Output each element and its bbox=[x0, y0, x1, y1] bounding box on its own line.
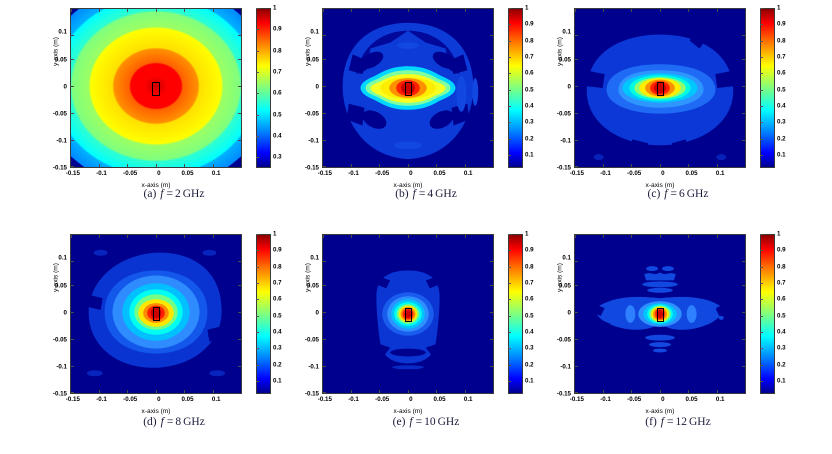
y-tick-label: -0.1 bbox=[308, 363, 319, 370]
colorbar-tick-label: 0.2 bbox=[273, 361, 282, 368]
x-tick-label: 0 bbox=[157, 170, 160, 177]
colorbar-tick-label: 0.7 bbox=[273, 69, 282, 76]
x-tick-label: 0.1 bbox=[716, 396, 725, 403]
colorbar-tick bbox=[508, 155, 511, 156]
colorbar-tick-label: 0.6 bbox=[777, 296, 786, 303]
colorbar-tick-label: 0.3 bbox=[777, 119, 786, 126]
y-tick-label: -0.1 bbox=[560, 363, 571, 370]
x-tick-label: 0 bbox=[661, 396, 664, 403]
panel-e: 0.10.050-0.05-0.1-0.15 y-axis (m) bbox=[296, 228, 556, 443]
colorbar-tick-label: 0.1 bbox=[525, 377, 534, 384]
caption-label-c: (c) bbox=[648, 188, 661, 200]
caption-unit-d: GHz bbox=[181, 416, 205, 428]
x-tick-label: -0.15 bbox=[570, 396, 584, 403]
colorbar-tick bbox=[256, 381, 259, 382]
colorbar-tick-label: 0.4 bbox=[273, 133, 282, 140]
x-tick-label: -0.1 bbox=[600, 170, 611, 177]
x-tick-labels-c: -0.15-0.1-0.0500.050.1 bbox=[574, 170, 746, 181]
y-tick-label: 0.1 bbox=[58, 29, 67, 36]
caption-unit-f: GHz bbox=[687, 416, 711, 428]
x-tick-label: 0.1 bbox=[212, 396, 221, 403]
caption-label-d: (d) bbox=[143, 416, 156, 428]
x-tick-label: -0.1 bbox=[348, 396, 359, 403]
y-tick-label: -0.1 bbox=[56, 137, 67, 144]
colorbar-tick-label: 0.4 bbox=[273, 328, 282, 335]
colorbar-tick-label: 0.9 bbox=[273, 26, 282, 33]
x-tick-label: 0.05 bbox=[182, 170, 194, 177]
colorbar-tick-label: 1 bbox=[273, 5, 276, 12]
y-tick-label: -0.05 bbox=[305, 110, 319, 117]
colorbar-tick-label: 0.7 bbox=[273, 279, 282, 286]
colorbar-f bbox=[760, 234, 775, 394]
panel-f: 0.10.050-0.05-0.1-0.15 y-axis (m) bbox=[548, 228, 808, 443]
caption-value-f: 12 bbox=[675, 416, 687, 428]
y-tick-label: 0 bbox=[316, 309, 319, 316]
colorbar-tick bbox=[760, 122, 763, 123]
colorbar-tick-label: 0.4 bbox=[777, 102, 786, 109]
colorbar-tick bbox=[760, 332, 763, 333]
x-tick-label: -0.1 bbox=[600, 396, 611, 403]
colorbar-tick-label: 0.3 bbox=[525, 119, 534, 126]
colorbar-tick-label: 0.7 bbox=[777, 53, 786, 60]
caption-label-b: (b) bbox=[395, 188, 408, 200]
caption-label-a: (a) bbox=[144, 188, 157, 200]
plot-area-a bbox=[70, 8, 242, 168]
colorbar-tick bbox=[256, 29, 259, 30]
colorbar-tick bbox=[256, 8, 259, 9]
caption-eq-c: = bbox=[669, 188, 680, 200]
x-tick-label: -0.15 bbox=[318, 170, 332, 177]
colorbar-tick bbox=[256, 136, 259, 137]
figure-panel-grid: 0.10.050-0.05-0.1-0.15 y-axis (m) bbox=[0, 0, 832, 454]
colorbar-tick-label: 1 bbox=[525, 231, 528, 238]
colorbar-tick bbox=[760, 316, 763, 317]
colorbar-tick bbox=[760, 234, 763, 235]
plot-area-e bbox=[322, 234, 494, 394]
colorbar-tick-label: 0.9 bbox=[777, 247, 786, 254]
y-tick-label: 0 bbox=[64, 309, 67, 316]
colorbar-tick bbox=[508, 283, 511, 284]
colorbar-tick bbox=[508, 41, 511, 42]
colorbar-tick bbox=[508, 122, 511, 123]
x-tick-labels-d: -0.15-0.1-0.0500.050.1 bbox=[70, 396, 242, 407]
y-axis-title-f: y-axis (m) bbox=[557, 238, 564, 318]
y-tick-label: -0.1 bbox=[56, 363, 67, 370]
colorbar-tick bbox=[508, 57, 511, 58]
colorbar-tick bbox=[760, 106, 763, 107]
colorbar-tick bbox=[760, 299, 763, 300]
caption-eq-f: = bbox=[665, 416, 676, 428]
colorbar-tick bbox=[508, 299, 511, 300]
x-tick-label: -0.1 bbox=[348, 170, 359, 177]
x-tick-label: 0.1 bbox=[716, 170, 725, 177]
y-tick-label: -0.1 bbox=[560, 137, 571, 144]
y-tick-label: 0 bbox=[64, 83, 67, 90]
y-axis-title-e: y-axis (m) bbox=[305, 238, 312, 318]
colorbar-tick-label: 0.7 bbox=[525, 279, 534, 286]
colorbar-tick bbox=[508, 234, 511, 235]
colorbar-tick bbox=[760, 24, 763, 25]
caption-value-c: 6 bbox=[679, 188, 685, 200]
caption-label-e: (e) bbox=[393, 416, 406, 428]
caption-value-a: 2 bbox=[175, 188, 181, 200]
colorbar-tick-label: 0.2 bbox=[525, 135, 534, 142]
colorbar-tick bbox=[760, 57, 763, 58]
target-rectangle-c bbox=[657, 82, 664, 96]
plot-box-d bbox=[70, 234, 242, 394]
colorbar-tick bbox=[256, 299, 259, 300]
y-axis-title-c: y-axis (m) bbox=[557, 12, 564, 92]
colorbar-tick-label: 0.1 bbox=[777, 151, 786, 158]
colorbar-tick-label: 0.6 bbox=[273, 296, 282, 303]
colorbar-tick-label: 0.6 bbox=[525, 70, 534, 77]
x-tick-labels-e: -0.15-0.1-0.0500.050.1 bbox=[322, 396, 494, 407]
y-tick-label: -0.1 bbox=[308, 137, 319, 144]
colorbar-tick bbox=[256, 157, 259, 158]
colorbar-tick bbox=[508, 139, 511, 140]
y-tick-label: 0.1 bbox=[310, 29, 319, 36]
colorbar-tick bbox=[508, 267, 511, 268]
colorbar-tick bbox=[760, 90, 763, 91]
x-tick-label: -0.15 bbox=[570, 170, 584, 177]
x-tick-label: 0 bbox=[409, 396, 412, 403]
y-tick-label: 0.1 bbox=[562, 29, 571, 36]
colorbar-tick-label: 1 bbox=[777, 231, 780, 238]
y-tick-label: -0.05 bbox=[557, 110, 571, 117]
colorbar-tick-label: 0.9 bbox=[525, 21, 534, 28]
caption-symbol-a: f bbox=[156, 188, 164, 200]
caption-unit-e: GHz bbox=[436, 416, 460, 428]
x-tick-label: 0.1 bbox=[464, 170, 473, 177]
colorbar-tick-label: 0.8 bbox=[525, 263, 534, 270]
colorbar-b bbox=[508, 8, 523, 168]
caption-label-f: (f) bbox=[645, 416, 657, 428]
colorbar-tick bbox=[760, 8, 763, 9]
colorbar-tick bbox=[508, 381, 511, 382]
colorbar-tick bbox=[508, 73, 511, 74]
colorbar-tick-label: 0.5 bbox=[273, 111, 282, 118]
y-tick-label: -0.05 bbox=[53, 336, 67, 343]
colorbar-tick bbox=[760, 348, 763, 349]
colorbar-tick bbox=[508, 24, 511, 25]
colorbar-tick-label: 0.3 bbox=[273, 345, 282, 352]
colorbar-tick bbox=[256, 267, 259, 268]
caption-unit-b: GHz bbox=[433, 188, 457, 200]
x-tick-label: 0.05 bbox=[434, 170, 446, 177]
colorbar-a bbox=[256, 8, 271, 168]
caption-symbol-b: f bbox=[409, 188, 417, 200]
x-tick-label: 0 bbox=[409, 170, 412, 177]
colorbar-tick-label: 0.8 bbox=[525, 37, 534, 44]
colorbar-tick bbox=[760, 41, 763, 42]
colorbar-tick bbox=[508, 106, 511, 107]
caption-symbol-e: f bbox=[405, 416, 413, 428]
colorbar-tick bbox=[508, 316, 511, 317]
x-tick-label: -0.05 bbox=[375, 170, 389, 177]
colorbar-tick bbox=[508, 250, 511, 251]
colorbar-tick-label: 0.2 bbox=[777, 361, 786, 368]
caption-symbol-f: f bbox=[657, 416, 665, 428]
x-tick-label: -0.05 bbox=[627, 396, 641, 403]
colorbar-tick-label: 0.5 bbox=[777, 312, 786, 319]
y-axis-title-a: y-axis (m) bbox=[53, 12, 60, 92]
y-tick-label: -0.05 bbox=[557, 336, 571, 343]
colorbar-tick-label: 1 bbox=[525, 5, 528, 12]
plot-box-f bbox=[574, 234, 746, 394]
plot-box-c bbox=[574, 8, 746, 168]
plot-area-b bbox=[322, 8, 494, 168]
caption-e: (e)f=10GHz bbox=[296, 416, 556, 428]
plot-box-b bbox=[322, 8, 494, 168]
colorbar-tick bbox=[256, 348, 259, 349]
caption-eq-d: = bbox=[165, 416, 176, 428]
colorbar-tick-label: 0.6 bbox=[273, 90, 282, 97]
colorbar-tick-label: 0.3 bbox=[525, 345, 534, 352]
colorbar-tick bbox=[256, 72, 259, 73]
x-tick-label: -0.05 bbox=[627, 170, 641, 177]
colorbar-tick bbox=[760, 250, 763, 251]
colorbar-tick-label: 0.4 bbox=[525, 102, 534, 109]
colorbar-c bbox=[760, 8, 775, 168]
target-rectangle-f bbox=[657, 308, 664, 322]
plot-box-e bbox=[322, 234, 494, 394]
x-axis-title-e: x-axis (m) bbox=[322, 408, 494, 415]
colorbar-tick-label: 0.6 bbox=[777, 70, 786, 77]
y-tick-label: 0.1 bbox=[58, 255, 67, 262]
colorbar-tick-label: 0.3 bbox=[273, 154, 282, 161]
colorbar-tick bbox=[256, 93, 259, 94]
x-tick-label: 0.05 bbox=[182, 396, 194, 403]
colorbar-tick-label: 0.8 bbox=[273, 47, 282, 54]
colorbar-tick-label: 0.7 bbox=[525, 53, 534, 60]
caption-eq-b: = bbox=[417, 188, 428, 200]
x-tick-label: -0.15 bbox=[66, 170, 80, 177]
colorbar-tick bbox=[760, 73, 763, 74]
target-rectangle-d bbox=[153, 307, 160, 321]
y-axis-title-d: y-axis (m) bbox=[53, 238, 60, 318]
y-axis-title-b: y-axis (m) bbox=[305, 12, 312, 92]
colorbar-tick bbox=[760, 155, 763, 156]
panel-d: 0.10.050-0.05-0.1-0.15 y-axis (m) bbox=[44, 228, 304, 443]
colorbar-gradient-c bbox=[761, 9, 774, 167]
x-tick-label: 0.05 bbox=[686, 396, 698, 403]
colorbar-e bbox=[508, 234, 523, 394]
x-tick-label: -0.05 bbox=[123, 396, 137, 403]
colorbar-tick bbox=[760, 283, 763, 284]
x-tick-label: 0 bbox=[661, 170, 664, 177]
colorbar-tick-label: 0.1 bbox=[525, 151, 534, 158]
x-tick-label: -0.15 bbox=[318, 396, 332, 403]
colorbar-tick-label: 0.8 bbox=[777, 263, 786, 270]
colorbar-tick-label: 0.9 bbox=[777, 21, 786, 28]
colorbar-tick-label: 0.1 bbox=[273, 377, 282, 384]
x-tick-label: 0.1 bbox=[212, 170, 221, 177]
x-tick-label: 0 bbox=[157, 396, 160, 403]
colorbar-tick-label: 0.8 bbox=[273, 263, 282, 270]
y-tick-label: 0 bbox=[568, 83, 571, 90]
y-tick-label: 0 bbox=[316, 83, 319, 90]
caption-c: (c)f=6GHz bbox=[548, 188, 808, 200]
colorbar-gradient-b bbox=[509, 9, 522, 167]
colorbar-tick bbox=[256, 51, 259, 52]
panel-a: 0.10.050-0.05-0.1-0.15 y-axis (m) bbox=[44, 2, 304, 217]
caption-a: (a)f=2GHz bbox=[44, 188, 304, 200]
colorbar-tick bbox=[256, 250, 259, 251]
colorbar-tick-label: 0.1 bbox=[777, 377, 786, 384]
colorbar-tick-label: 1 bbox=[777, 5, 780, 12]
colorbar-tick-label: 0.5 bbox=[777, 86, 786, 93]
colorbar-tick-label: 0.6 bbox=[525, 296, 534, 303]
colorbar-gradient-f bbox=[761, 235, 774, 393]
x-tick-label: -0.1 bbox=[96, 396, 107, 403]
x-tick-label: -0.15 bbox=[66, 396, 80, 403]
colorbar-tick-label: 0.7 bbox=[777, 279, 786, 286]
colorbar-tick-label: 1 bbox=[273, 231, 276, 238]
colorbar-tick-label: 0.2 bbox=[525, 361, 534, 368]
colorbar-tick bbox=[256, 234, 259, 235]
panel-b: 0.10.050-0.05-0.1-0.15 y-axis (m) bbox=[296, 2, 556, 217]
x-tick-label: -0.05 bbox=[123, 170, 137, 177]
caption-value-e: 10 bbox=[424, 416, 436, 428]
x-tick-label: -0.05 bbox=[375, 396, 389, 403]
colorbar-tick bbox=[760, 365, 763, 366]
colorbar-tick bbox=[508, 348, 511, 349]
plot-area-f bbox=[574, 234, 746, 394]
colorbar-tick bbox=[256, 283, 259, 284]
colorbar-tick bbox=[256, 316, 259, 317]
colorbar-tick bbox=[508, 365, 511, 366]
colorbar-tick bbox=[256, 115, 259, 116]
x-tick-labels-b: -0.15-0.1-0.0500.050.1 bbox=[322, 170, 494, 181]
caption-unit-a: GHz bbox=[181, 188, 205, 200]
target-rectangle-b bbox=[405, 82, 412, 96]
caption-symbol-c: f bbox=[660, 188, 668, 200]
colorbar-tick-label: 0.9 bbox=[525, 247, 534, 254]
y-tick-label: -0.05 bbox=[53, 110, 67, 117]
x-tick-labels-f: -0.15-0.1-0.0500.050.1 bbox=[574, 396, 746, 407]
target-rectangle-e bbox=[405, 308, 412, 322]
colorbar-tick bbox=[256, 332, 259, 333]
y-tick-label: 0 bbox=[568, 309, 571, 316]
x-tick-label: 0.05 bbox=[434, 396, 446, 403]
colorbar-tick bbox=[508, 8, 511, 9]
caption-eq-e: = bbox=[414, 416, 425, 428]
colorbar-tick bbox=[508, 332, 511, 333]
colorbar-tick-label: 0.4 bbox=[777, 328, 786, 335]
x-tick-label: 0.1 bbox=[464, 396, 473, 403]
colorbar-tick-labels-f: 0.10.20.30.40.50.60.70.80.91 bbox=[777, 234, 807, 394]
y-tick-label: 0.1 bbox=[562, 255, 571, 262]
x-tick-label: -0.1 bbox=[96, 170, 107, 177]
panel-c: 0.10.050-0.05-0.1-0.15 y-axis (m) bbox=[548, 2, 808, 217]
colorbar-tick bbox=[760, 139, 763, 140]
x-axis-title-f: x-axis (m) bbox=[574, 408, 746, 415]
x-tick-label: 0.05 bbox=[686, 170, 698, 177]
colorbar-tick bbox=[508, 90, 511, 91]
caption-b: (b)f=4GHz bbox=[296, 188, 556, 200]
colorbar-gradient-a bbox=[257, 9, 270, 167]
plot-box-a bbox=[70, 8, 242, 168]
colorbar-gradient-d bbox=[257, 235, 270, 393]
colorbar-tick-label: 0.5 bbox=[273, 312, 282, 319]
colorbar-tick bbox=[760, 267, 763, 268]
caption-eq-a: = bbox=[165, 188, 176, 200]
colorbar-tick-label: 0.2 bbox=[777, 135, 786, 142]
colorbar-tick bbox=[760, 381, 763, 382]
y-tick-label: -0.05 bbox=[305, 336, 319, 343]
plot-area-d bbox=[70, 234, 242, 394]
colorbar-tick-label: 0.4 bbox=[525, 328, 534, 335]
x-axis-title-d: x-axis (m) bbox=[70, 408, 242, 415]
y-tick-label: 0.1 bbox=[310, 255, 319, 262]
colorbar-tick-label: 0.8 bbox=[777, 37, 786, 44]
caption-unit-c: GHz bbox=[685, 188, 709, 200]
colorbar-d bbox=[256, 234, 271, 394]
colorbar-tick-label: 0.5 bbox=[525, 86, 534, 93]
colorbar-tick-labels-c: 0.10.20.30.40.50.60.70.80.91 bbox=[777, 8, 807, 168]
plot-area-c bbox=[574, 8, 746, 168]
caption-f: (f)f=12GHz bbox=[548, 416, 808, 428]
colorbar-gradient-e bbox=[509, 235, 522, 393]
caption-symbol-d: f bbox=[157, 416, 165, 428]
colorbar-tick bbox=[256, 365, 259, 366]
target-rectangle-a bbox=[152, 82, 160, 96]
x-tick-labels-a: -0.15-0.1-0.0500.050.1 bbox=[70, 170, 242, 181]
caption-d: (d)f=8GHz bbox=[44, 416, 304, 428]
colorbar-tick-label: 0.5 bbox=[525, 312, 534, 319]
colorbar-tick-label: 0.3 bbox=[777, 345, 786, 352]
colorbar-tick-label: 0.9 bbox=[273, 247, 282, 254]
